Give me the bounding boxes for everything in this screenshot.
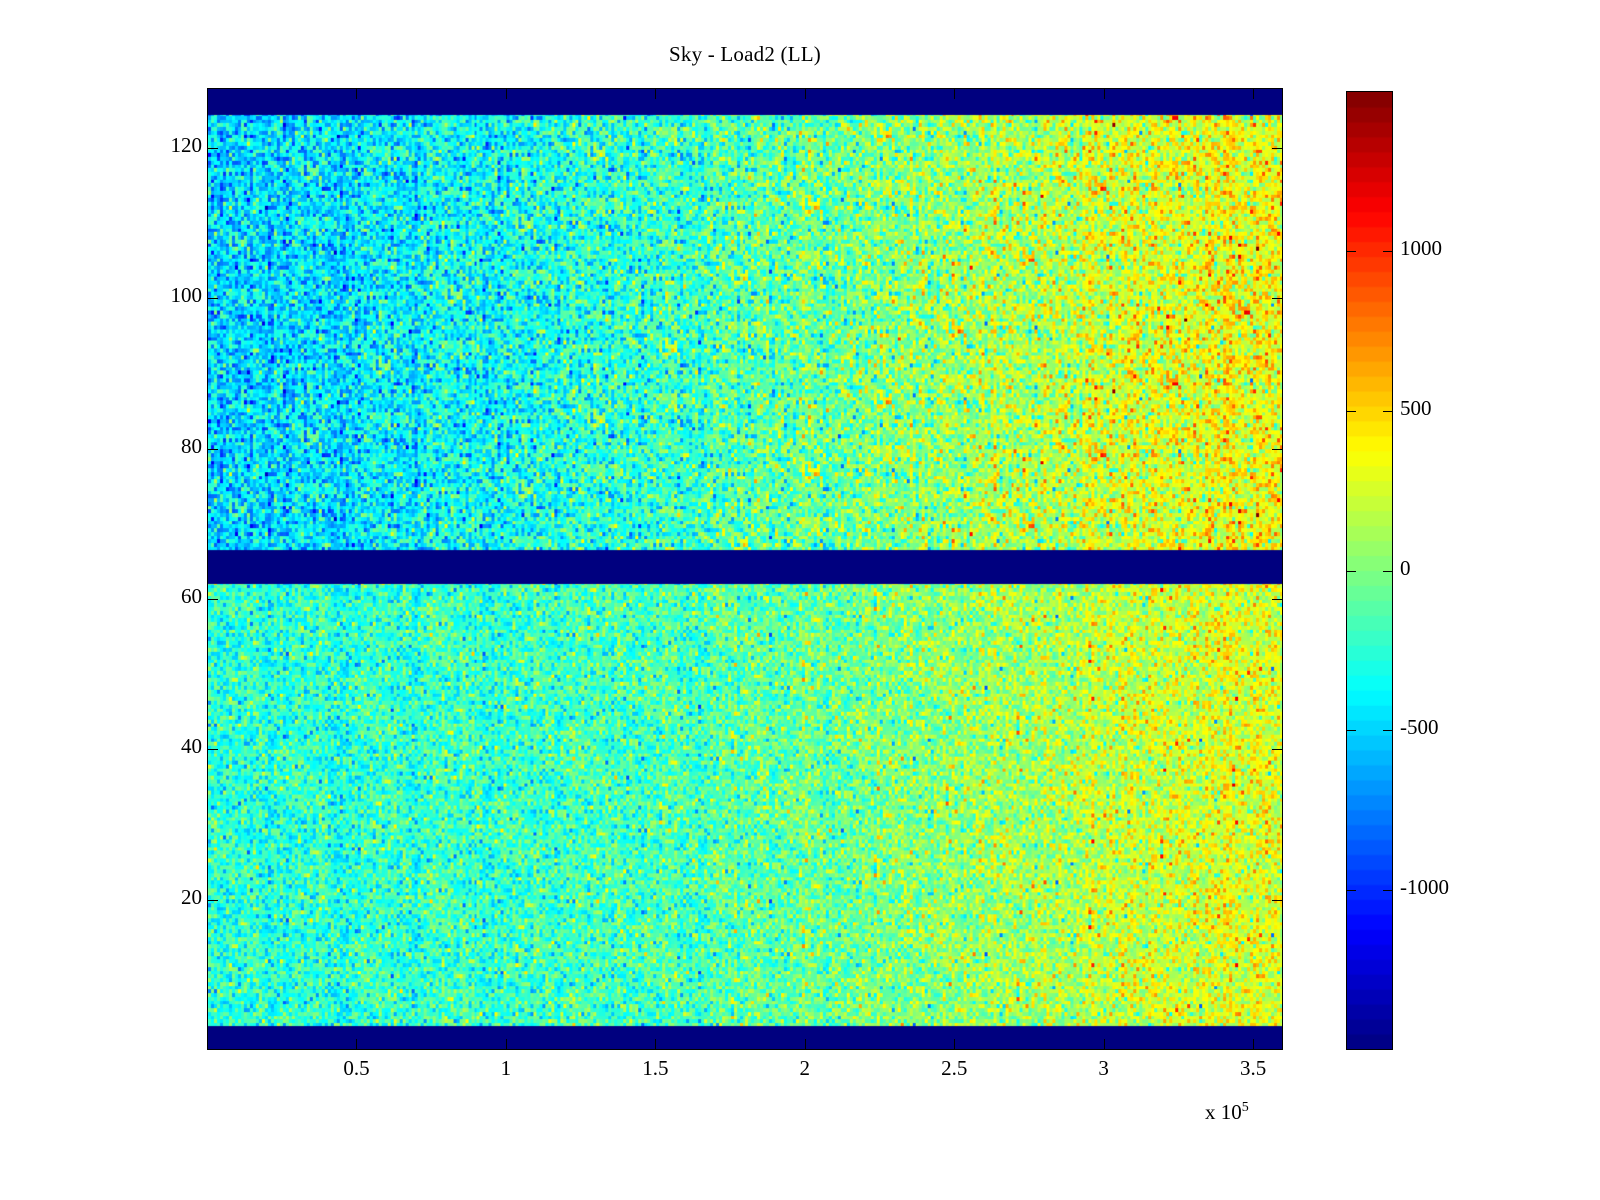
y-axis-tick-mark: [207, 148, 218, 149]
heatmap-image: [208, 89, 1282, 1049]
x-axis-tick-label: 1.5: [610, 1056, 700, 1081]
x-axis-tick-mark-top: [805, 88, 806, 99]
colorbar-tick-mark-left: [1346, 411, 1356, 412]
heatmap-axes: [207, 88, 1283, 1050]
y-axis-tick-mark-right: [1272, 749, 1283, 750]
x-axis-tick-label: 1: [461, 1056, 551, 1081]
x-axis-tick-mark-top: [954, 88, 955, 99]
matlab-figure: Sky - Load2 (LL) 20406080100120 0.511.52…: [0, 0, 1600, 1200]
x-axis-tick-mark-top: [1104, 88, 1105, 99]
y-axis-tick-mark: [207, 749, 218, 750]
colorbar-tick-mark-right: [1383, 890, 1393, 891]
x-axis-tick-mark: [506, 1039, 507, 1050]
x-axis-tick-label: 3: [1059, 1056, 1149, 1081]
y-axis-tick-label: 120: [171, 133, 203, 158]
x-axis-tick-label: 2: [760, 1056, 850, 1081]
y-axis-tick-label: 20: [181, 885, 202, 910]
y-axis-tick-mark-right: [1272, 900, 1283, 901]
x-axis-tick-mark: [356, 1039, 357, 1050]
colorbar-tick-mark-left: [1346, 571, 1356, 572]
x-axis-multiplier-exponent: 5: [1242, 1100, 1249, 1115]
x-axis-tick-label: 0.5: [311, 1056, 401, 1081]
colorbar-tick-label: 0: [1400, 556, 1411, 581]
colorbar-tick-mark-right: [1383, 571, 1393, 572]
colorbar-tick-label: 1000: [1400, 236, 1442, 261]
x-axis-tick-mark: [655, 1039, 656, 1050]
x-axis-tick-mark-top: [506, 88, 507, 99]
x-axis-tick-mark: [954, 1039, 955, 1050]
y-axis-tick-mark: [207, 449, 218, 450]
x-axis-tick-mark: [805, 1039, 806, 1050]
chart-title: Sky - Load2 (LL): [0, 42, 1490, 67]
y-axis-tick-label: 40: [181, 734, 202, 759]
y-axis-tick-mark: [207, 599, 218, 600]
y-axis-tick-label: 80: [181, 434, 202, 459]
colorbar-tick-mark-left: [1346, 890, 1356, 891]
x-axis-tick-label: 3.5: [1208, 1056, 1298, 1081]
y-axis-tick-mark: [207, 900, 218, 901]
y-axis-tick-mark-right: [1272, 599, 1283, 600]
y-axis-tick-label: 100: [171, 283, 203, 308]
y-axis-tick-mark-right: [1272, 449, 1283, 450]
x-axis-multiplier-base: x 10: [1205, 1100, 1242, 1124]
y-axis-tick-mark-right: [1272, 298, 1283, 299]
colorbar-tick-label: -1000: [1400, 875, 1449, 900]
colorbar-tick-mark-left: [1346, 251, 1356, 252]
x-axis-tick-mark-top: [655, 88, 656, 99]
colorbar-tick-label: -500: [1400, 715, 1439, 740]
colorbar-tick-mark-right: [1383, 251, 1393, 252]
colorbar-tick-mark-right: [1383, 411, 1393, 412]
y-axis-tick-mark-right: [1272, 148, 1283, 149]
y-axis-tick-label: 60: [181, 584, 202, 609]
colorbar-tick-mark-right: [1383, 730, 1393, 731]
colorbar-tick-label: 500: [1400, 396, 1432, 421]
y-axis-tick-mark: [207, 298, 218, 299]
x-axis-tick-mark-top: [1253, 88, 1254, 99]
x-axis-tick-label: 2.5: [909, 1056, 999, 1081]
x-axis-tick-mark-top: [356, 88, 357, 99]
x-axis-tick-mark: [1253, 1039, 1254, 1050]
colorbar-tick-mark-left: [1346, 730, 1356, 731]
x-axis-multiplier: x 105: [1205, 1100, 1249, 1125]
x-axis-tick-mark: [1104, 1039, 1105, 1050]
